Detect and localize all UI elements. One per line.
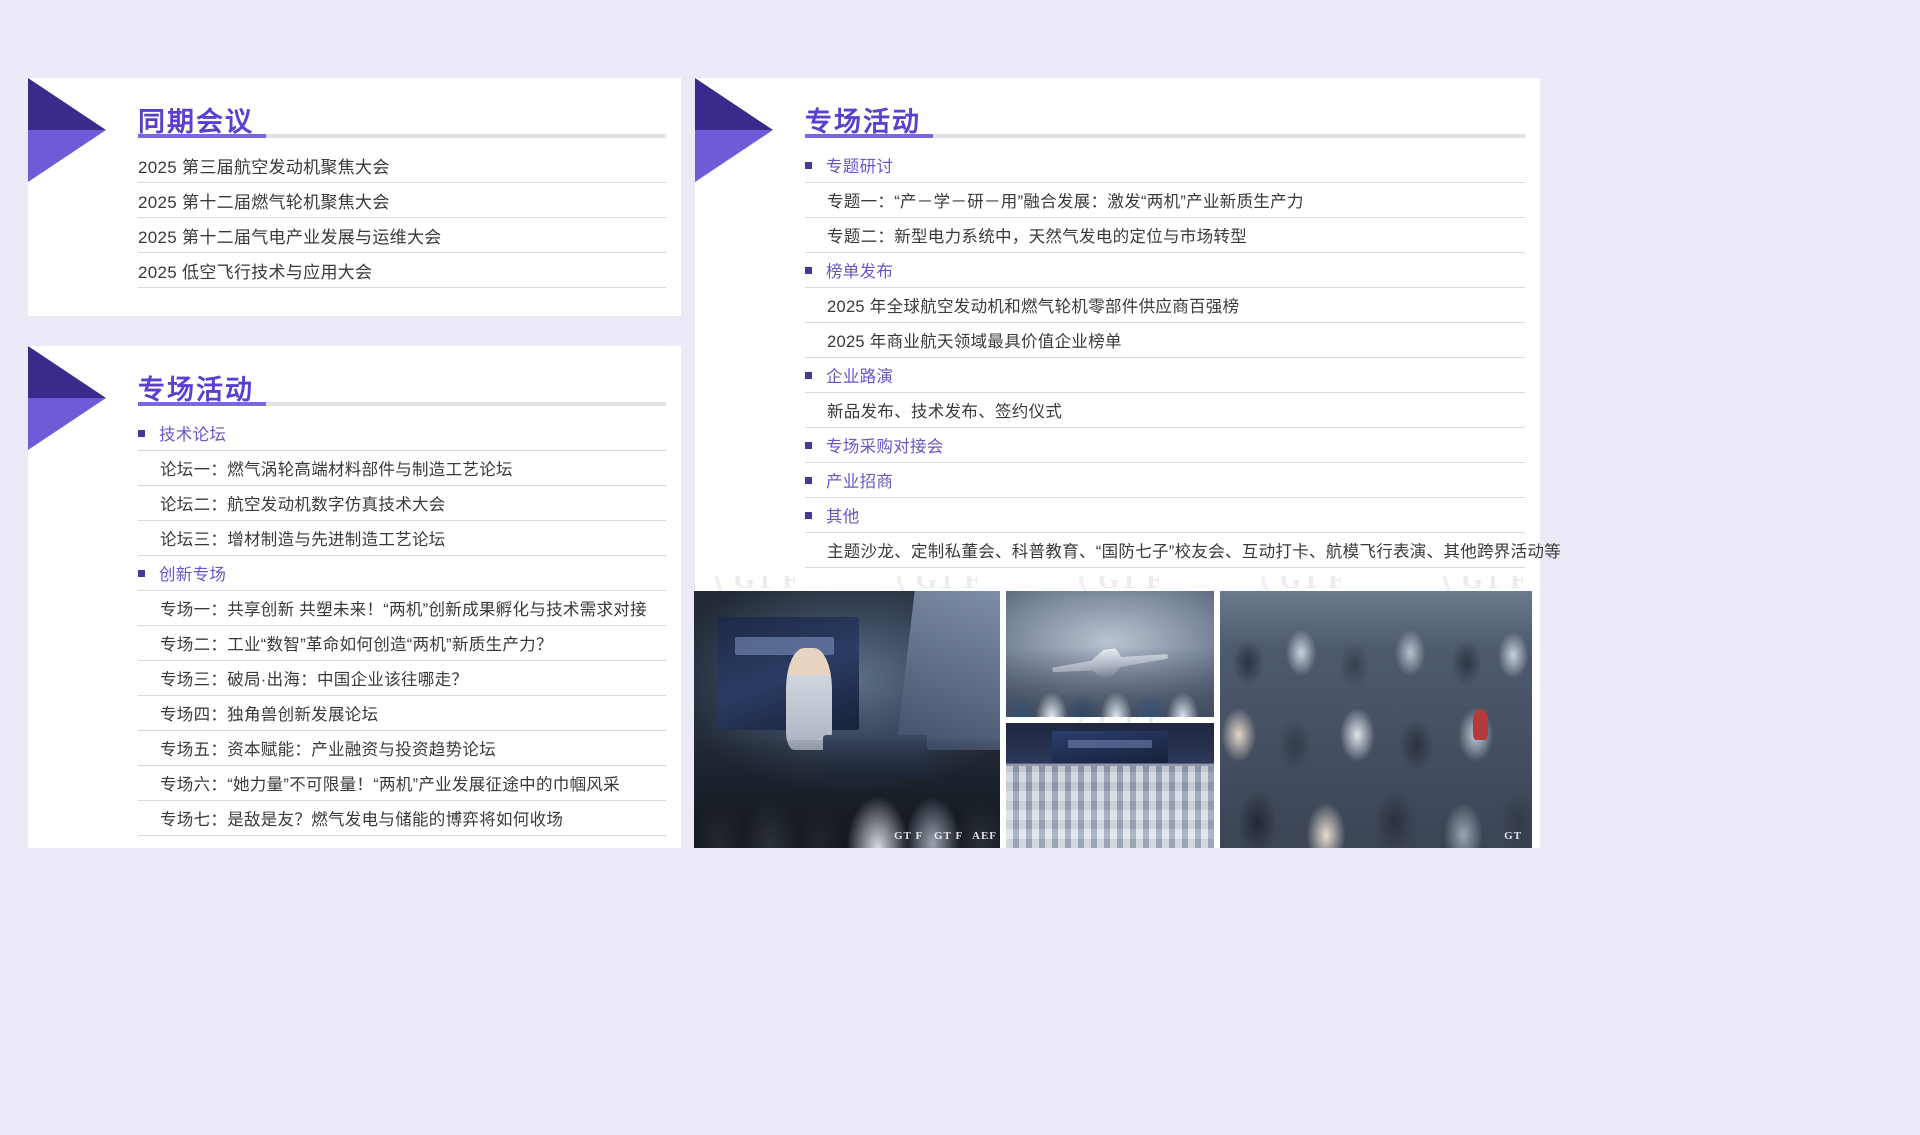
list-category-label: 其他 bbox=[826, 503, 860, 527]
list-item: 2025 年商业航天领域最具价值企业榜单 bbox=[805, 323, 1525, 358]
bullet-square-icon bbox=[138, 570, 145, 577]
bullet-square-icon bbox=[805, 512, 812, 519]
bullet-square-icon bbox=[805, 477, 812, 484]
list-category-row: 企业路演 bbox=[805, 358, 1525, 393]
band-bottom bbox=[0, 848, 1560, 1135]
list-category-label: 产业招商 bbox=[826, 468, 893, 492]
list-item: 专场六：“她力量”不可限量！“两机”产业发展征途中的巾帼风采 bbox=[138, 766, 666, 801]
list-item: 专场一：共享创新 共塑未来！“两机”创新成果孵化与技术需求对接 bbox=[138, 591, 666, 626]
photo-students-model-aircraft[interactable] bbox=[1006, 591, 1214, 717]
audience-highlight bbox=[1473, 709, 1489, 740]
list-item: 专场四：独角兽创新发展论坛 bbox=[138, 696, 666, 731]
card-concurrent-conferences: 同期会议 2025 第三届航空发动机聚焦大会2025 第十二届燃气轮机聚焦大会2… bbox=[28, 78, 681, 316]
hall-seating bbox=[1006, 766, 1214, 849]
list-category-label: 创新专场 bbox=[159, 561, 226, 585]
list-item: 2025 第十二届气电产业发展与运维大会 bbox=[138, 218, 666, 253]
band-left-edge bbox=[0, 78, 28, 848]
card-special-events-right: 专场活动 专题研讨专题一：“产－学－研－用”融合发展：激发“两机”产业新质生产力… bbox=[695, 78, 1540, 576]
page-root: 同期会议 2025 第三届航空发动机聚焦大会2025 第十二届燃气轮机聚焦大会2… bbox=[0, 0, 1920, 1135]
bullet-square-icon bbox=[805, 267, 812, 274]
card-special-events-left: 专场活动 技术论坛论坛一：燃气涡轮高端材料部件与制造工艺论坛论坛二：航空发动机数… bbox=[28, 346, 681, 848]
photo-badge-aef: AEF bbox=[972, 830, 997, 842]
list-item: 2025 第十二届燃气轮机聚焦大会 bbox=[138, 183, 666, 218]
photo-conference-hall[interactable] bbox=[1006, 723, 1214, 848]
photo-speaker-stage[interactable]: GT F GT F AEF bbox=[694, 591, 1000, 848]
list-category-label: 榜单发布 bbox=[826, 258, 893, 282]
list-item: 新品发布、技术发布、签约仪式 bbox=[805, 393, 1525, 428]
title-rule-2 bbox=[138, 402, 666, 406]
list-item: 专题一：“产－学－研－用”融合发展：激发“两机”产业新质生产力 bbox=[805, 183, 1525, 218]
list-category-label: 企业路演 bbox=[826, 363, 893, 387]
title-rule-1 bbox=[138, 134, 666, 138]
list-item: 2025 年全球航空发动机和燃气轮机零部件供应商百强榜 bbox=[805, 288, 1525, 323]
list-item: 2025 低空飞行技术与应用大会 bbox=[138, 253, 666, 288]
list-item: 专场二：工业“数智”革命如何创造“两机”新质生产力？ bbox=[138, 626, 666, 661]
arrow-marker-light-2 bbox=[28, 398, 106, 450]
list-item: 论坛二：航空发动机数字仿真技术大会 bbox=[138, 486, 666, 521]
bullet-square-icon bbox=[805, 442, 812, 449]
list-item: 主题沙龙、定制私董会、科普教育、“国防七子”校友会、互动打卡、航模飞行表演、其他… bbox=[805, 533, 1525, 568]
arrow-marker-dark-1 bbox=[28, 78, 106, 130]
students-group bbox=[1006, 648, 1214, 717]
list-concurrent-conferences: 2025 第三届航空发动机聚焦大会2025 第十二届燃气轮机聚焦大会2025 第… bbox=[138, 148, 666, 288]
list-item: 专场三：破局·出海：中国企业该往哪走？ bbox=[138, 661, 666, 696]
list-category-row: 产业招商 bbox=[805, 463, 1525, 498]
photo-gallery: GT F GT F AEF GT bbox=[694, 591, 1540, 848]
bullet-square-icon bbox=[138, 430, 145, 437]
list-item: 专场七：是敌是友？燃气发电与储能的博弈将如何收场 bbox=[138, 801, 666, 836]
bullet-square-icon bbox=[805, 372, 812, 379]
list-category-row: 榜单发布 bbox=[805, 253, 1525, 288]
band-top-left bbox=[0, 0, 1560, 78]
list-category-row: 技术论坛 bbox=[138, 416, 666, 451]
hall-stage bbox=[1052, 731, 1168, 764]
list-item: 专场五：资本赋能：产业融资与投资趋势论坛 bbox=[138, 731, 666, 766]
list-category-label: 专题研讨 bbox=[826, 153, 893, 177]
photo-badge-gtf-1: GT F bbox=[894, 830, 923, 842]
band-left-gap bbox=[0, 316, 690, 346]
arrow-marker-dark-2 bbox=[28, 346, 106, 398]
photo-badge-gt: GT bbox=[1504, 830, 1522, 842]
title-rule-3 bbox=[805, 134, 1525, 138]
arrow-marker-light-1 bbox=[28, 130, 106, 182]
photo-badge-gtf-2: GT F bbox=[934, 830, 963, 842]
list-category-row: 创新专场 bbox=[138, 556, 666, 591]
arrow-marker-dark-3 bbox=[695, 78, 773, 130]
list-item: 论坛一：燃气涡轮高端材料部件与制造工艺论坛 bbox=[138, 451, 666, 486]
list-special-events-left: 技术论坛论坛一：燃气涡轮高端材料部件与制造工艺论坛论坛二：航空发动机数字仿真技术… bbox=[138, 416, 666, 836]
photo-audience[interactable]: GT bbox=[1220, 591, 1532, 848]
arrow-marker-light-3 bbox=[695, 130, 773, 182]
list-item: 专题二：新型电力系统中，天然气发电的定位与市场转型 bbox=[805, 218, 1525, 253]
list-category-label: 技术论坛 bbox=[159, 421, 226, 445]
list-category-row: 专场采购对接会 bbox=[805, 428, 1525, 463]
list-category-row: 其他 bbox=[805, 498, 1525, 533]
list-category-row: 专题研讨 bbox=[805, 148, 1525, 183]
stage-wall bbox=[896, 591, 1000, 750]
list-item: 论坛三：增材制造与先进制造工艺论坛 bbox=[138, 521, 666, 556]
band-right-edge bbox=[1540, 0, 1920, 1135]
list-special-events-right: 专题研讨专题一：“产－学－研－用”融合发展：激发“两机”产业新质生产力专题二：新… bbox=[805, 148, 1525, 568]
bullet-square-icon bbox=[805, 162, 812, 169]
band-mid-gutter bbox=[681, 78, 695, 848]
photo-column-middle bbox=[1006, 591, 1214, 848]
list-item: 2025 第三届航空发动机聚焦大会 bbox=[138, 148, 666, 183]
list-category-label: 专场采购对接会 bbox=[826, 433, 944, 457]
